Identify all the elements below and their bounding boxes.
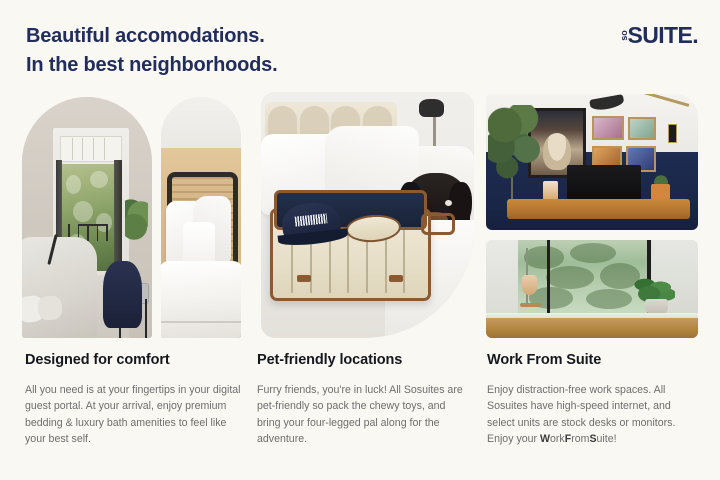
feature-body-3-bold-s: S [589,433,596,445]
image-suitcase-with-dog [261,92,474,338]
feature-body-2: Furry friends, you're in luck! All Sosui… [257,382,467,448]
feature-body-3-mid1: ork [550,433,565,445]
feature-body-3-end: uite! [597,433,617,445]
feature-heading-3: Work From Suite [487,352,699,368]
feature-heading-1: Designed for comfort [25,352,243,368]
feature-body-3-mid2: rom [571,433,589,445]
feature-heading-2: Pet-friendly locations [257,352,467,368]
feature-body-1: All you need is at your fingertips in yo… [25,382,243,448]
image-bed-white-pillows [161,97,241,338]
image-desk-by-window [486,240,698,338]
image-living-room-french-doors [22,97,152,338]
feature-text-2: Pet-friendly locations Furry friends, yo… [257,352,467,448]
feature-text-3: Work From Suite Enjoy distraction-free w… [487,352,699,448]
feature-text-1: Designed for comfort All you need is at … [25,352,243,448]
feature-body-3-bold-w: W [540,433,550,445]
feature-body-3: Enjoy distraction-free work spaces. All … [487,382,699,448]
image-navy-living-room-tv [486,94,698,230]
